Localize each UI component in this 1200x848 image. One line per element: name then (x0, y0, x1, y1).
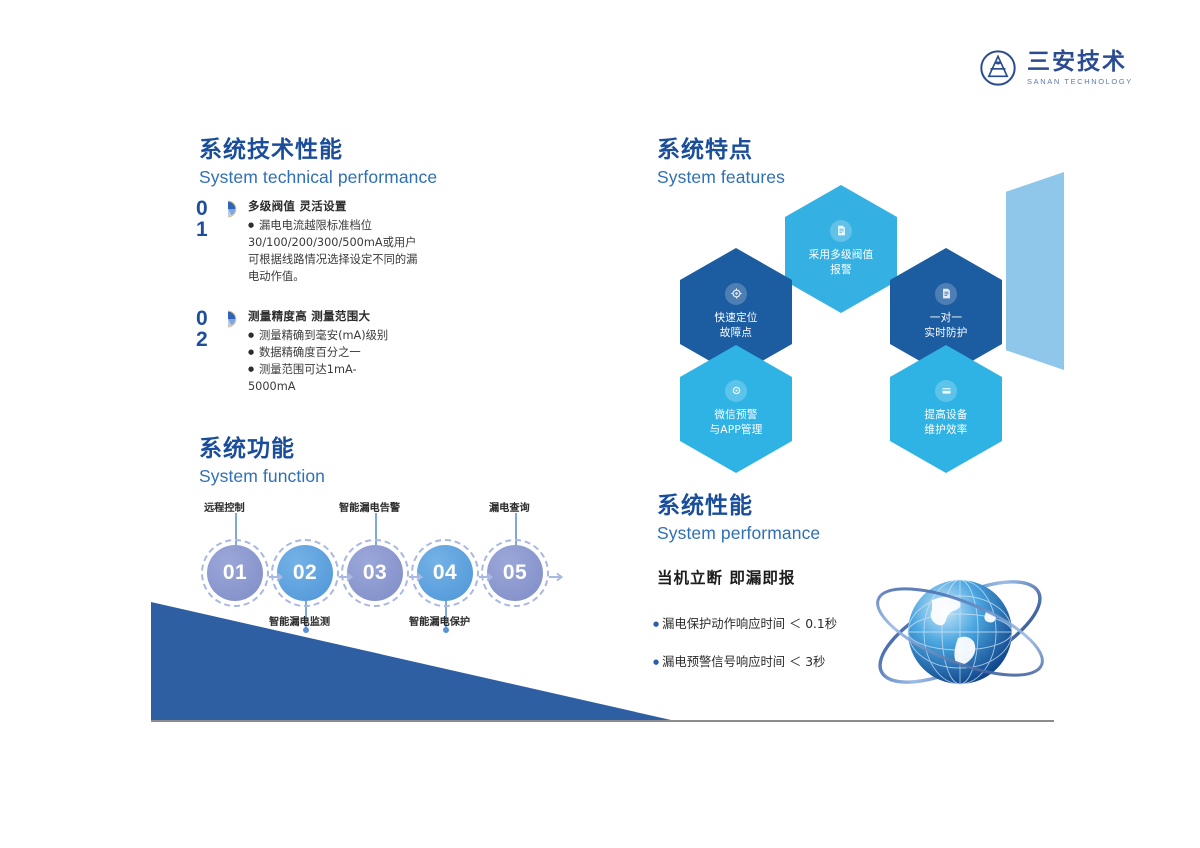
tech-item: 0 1 多级阀值 灵活设置 漏电电流越限标准档位 30/100/200/300/… (196, 198, 526, 286)
feature-line-1: 微信预警 (709, 408, 762, 423)
tech-number-bottom: 1 (196, 219, 218, 240)
tech-section-heading: 系统技术性能 System technical performance (199, 136, 437, 188)
tech-bullet-cont: 可根据线路情况选择设定不同的漏 (248, 251, 526, 268)
feature-line-2: 故障点 (714, 326, 757, 341)
tech-item-number: 0 1 (196, 198, 218, 286)
feature-line-2: 报警 (809, 263, 874, 278)
logo-name-cn: 三安技术 (1027, 50, 1133, 74)
performance-point: 漏电预警信号响应时间 ＜ 3秒 (653, 652, 825, 670)
step-node[interactable]: 04 (417, 545, 473, 601)
performance-point: 漏电保护动作响应时间 ＜ 0.1秒 (653, 614, 837, 632)
step-node[interactable]: 05 (487, 545, 543, 601)
performance-title-en: System performance (657, 523, 820, 544)
feature-line-2: 维护效率 (924, 423, 967, 438)
tech-bullet: 数据精确度百分之一 (248, 344, 526, 361)
half-disc-icon (218, 308, 244, 396)
feature-text: 快速定位 故障点 (714, 311, 757, 342)
feature-text: 一对一 实时防护 (924, 311, 967, 342)
step-node[interactable]: 01 (207, 545, 263, 601)
feature-text: 采用多级阀值 报警 (809, 248, 874, 279)
step-number: 03 (347, 545, 403, 601)
tech-item-body: 测量精度高 测量范围大 测量精确到毫安(mA)级别 数据精确度百分之一 测量范围… (244, 308, 526, 396)
step-arrow-icon (339, 569, 355, 579)
tech-item-heading: 测量精度高 测量范围大 (248, 308, 526, 324)
card-icon (935, 380, 957, 402)
performance-subtitle: 当机立断 即漏即报 (657, 566, 795, 588)
half-disc-icon (218, 198, 244, 286)
feature-line-2: 与APP管理 (709, 423, 762, 438)
performance-title-cn: 系统性能 (657, 492, 820, 521)
step-arrow-icon (269, 569, 285, 579)
tech-item-bullets: 测量精确到毫安(mA)级别 数据精确度百分之一 测量范围可达1mA- 5000m… (248, 327, 526, 396)
step-arrow-icon (479, 569, 495, 579)
feature-line-2: 实时防护 (924, 326, 967, 341)
tech-item-heading: 多级阀值 灵活设置 (248, 198, 526, 214)
step-node[interactable]: 03 (347, 545, 403, 601)
sanan-circle-a-logo-icon (978, 48, 1018, 88)
tech-bullet-cont: 5000mA (248, 378, 526, 395)
globe-orbit-icon (862, 552, 1058, 712)
step-arrow-icon (409, 569, 425, 579)
document-icon (935, 283, 957, 305)
function-title-en: System function (199, 466, 325, 487)
target-icon (725, 283, 747, 305)
brand-logo: 三安技术 SANAN TECHNOLOGY (978, 48, 1133, 88)
features-hexagon-cluster: 采用多级阀值 报警 快速定位 故障点 一对一 实时防护 (655, 185, 1055, 475)
tech-bullet: 测量范围可达1mA- (248, 361, 526, 378)
feature-text: 提高设备 维护效率 (924, 408, 967, 439)
function-section-heading: 系统功能 System function (199, 435, 325, 487)
slide-page: 三安技术 SANAN TECHNOLOGY 系统技术性能 System tech… (0, 0, 1200, 848)
tech-item-body: 多级阀值 灵活设置 漏电电流越限标准档位 30/100/200/300/500m… (244, 198, 526, 286)
function-title-cn: 系统功能 (199, 435, 325, 464)
feature-text: 微信预警 与APP管理 (709, 408, 762, 439)
step-label: 漏电查询 (489, 499, 530, 514)
feature-line-1: 采用多级阀值 (809, 248, 874, 263)
feature-hexagon[interactable]: 提高设备 维护效率 (890, 345, 1002, 473)
feature-hexagon[interactable]: 采用多级阀值 报警 (785, 185, 897, 313)
decorative-triangle (151, 602, 671, 722)
tech-bullet: 测量精确到毫安(mA)级别 (248, 327, 526, 344)
feature-hexagon[interactable]: 微信预警 与APP管理 (680, 345, 792, 473)
step-label: 智能漏电告警 (339, 499, 400, 514)
tech-number-top: 0 (196, 198, 218, 219)
gear-icon (725, 380, 747, 402)
feature-line-1: 提高设备 (924, 408, 967, 423)
feature-line-1: 一对一 (924, 311, 967, 326)
tech-title-en: System technical performance (199, 167, 437, 188)
tech-number-bottom: 2 (196, 329, 218, 350)
step-number: 02 (277, 545, 333, 601)
tech-bullet-cont: 30/100/200/300/500mA或用户 (248, 234, 526, 251)
step-node[interactable]: 02 (277, 545, 333, 601)
step-number: 05 (487, 545, 543, 601)
step-label: 远程控制 (204, 499, 245, 514)
tech-bullet-cont: 电动作值。 (248, 268, 526, 285)
bottom-divider (151, 720, 1054, 722)
tech-bullet: 漏电电流越限标准档位 (248, 217, 526, 234)
tech-item-bullets: 漏电电流越限标准档位 30/100/200/300/500mA或用户 可根据线路… (248, 217, 526, 286)
tech-item-number: 0 2 (196, 308, 218, 396)
features-section-heading: 系统特点 System features (657, 136, 785, 188)
feature-line-1: 快速定位 (714, 311, 757, 326)
performance-section-heading: 系统性能 System performance (657, 492, 820, 544)
tech-title-cn: 系统技术性能 (199, 136, 437, 165)
logo-name-en: SANAN TECHNOLOGY (1027, 77, 1133, 86)
features-title-cn: 系统特点 (657, 136, 785, 165)
tech-number-top: 0 (196, 308, 218, 329)
tech-items-list: 0 1 多级阀值 灵活设置 漏电电流越限标准档位 30/100/200/300/… (196, 198, 526, 417)
step-arrow-icon (549, 569, 565, 579)
document-icon (830, 220, 852, 242)
step-number: 01 (207, 545, 263, 601)
step-number: 04 (417, 545, 473, 601)
tech-item: 0 2 测量精度高 测量范围大 测量精确到毫安(mA)级别 数据精确度百分之一 … (196, 308, 526, 396)
